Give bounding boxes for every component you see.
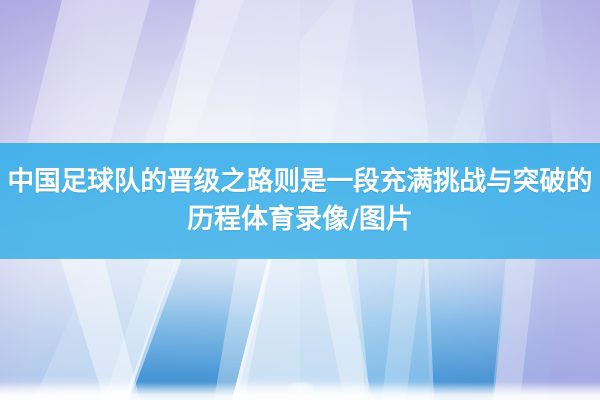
banner-image: 中国足球队的晋级之路则是一段充满挑战与突破的 历程体育录像/图片 (0, 0, 600, 400)
headline-line-2: 历程体育录像/图片 (187, 201, 413, 239)
caption-band: 中国足球队的晋级之路则是一段充满挑战与突破的 历程体育录像/图片 (0, 143, 600, 259)
headline-line-1: 中国足球队的晋级之路则是一段充满挑战与突破的 (7, 163, 592, 201)
bottom-fade-strip (0, 382, 600, 400)
